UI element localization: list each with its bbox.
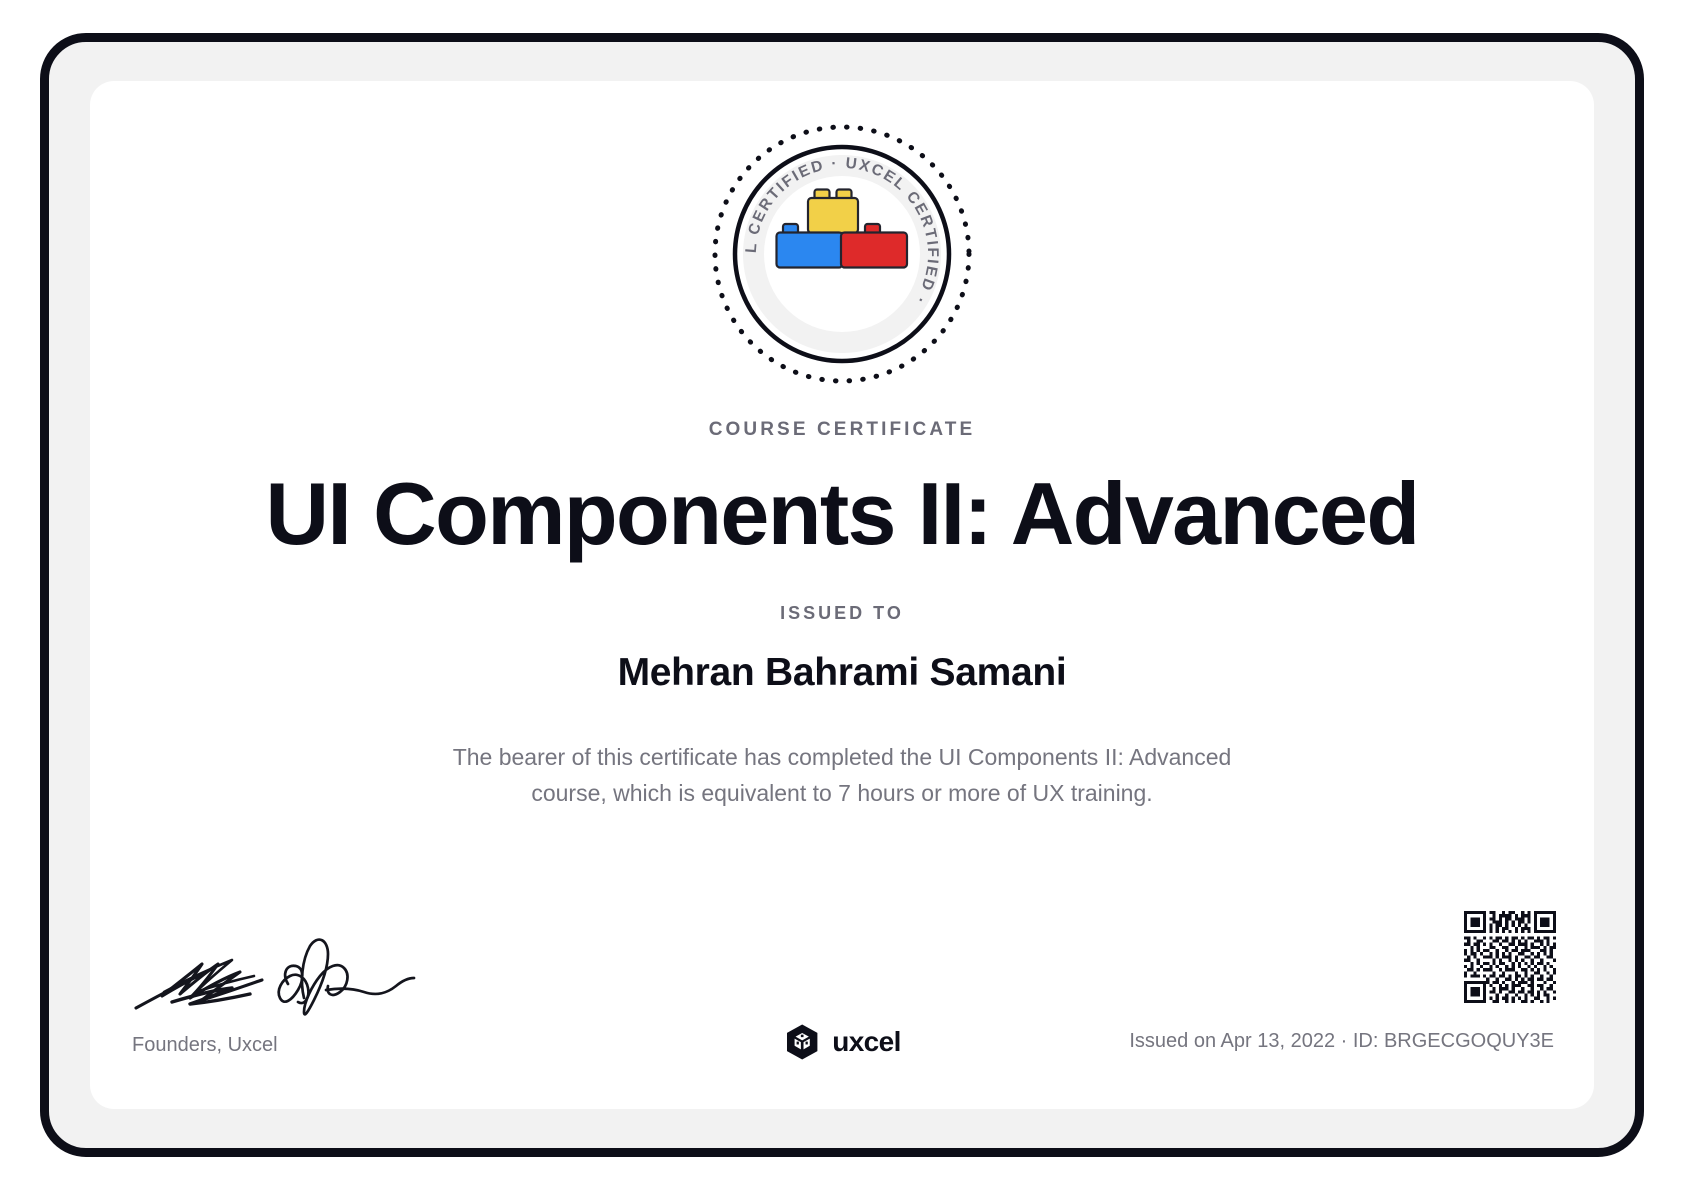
uxcel-brand: uxcel xyxy=(783,1023,901,1061)
certificate-page: UXCEL CERTIFIED · UXCEL CERTIFIED · xyxy=(0,0,1684,1190)
certificate-footer: Founders, Uxcel uxcel xyxy=(90,919,1594,1109)
uxcel-wordmark: uxcel xyxy=(832,1026,901,1058)
signature-label: Founders, Uxcel xyxy=(132,1034,458,1057)
recipient-name: Mehran Bahrami Samani xyxy=(618,651,1067,695)
signature-block: Founders, Uxcel xyxy=(128,936,458,1057)
issued-to-label: Issued To xyxy=(780,603,904,624)
uxcel-certified-seal: UXCEL CERTIFIED · UXCEL CERTIFIED · xyxy=(708,120,976,388)
issue-metadata: Issued on Apr 13, 2022 · ID: BRGECGOQUY3… xyxy=(1129,1030,1554,1053)
founder-signatures xyxy=(128,936,428,1022)
certificate-qr-code[interactable] xyxy=(1464,911,1556,1003)
certificate-description: The bearer of this certificate has compl… xyxy=(447,739,1237,812)
certificate-card: UXCEL CERTIFIED · UXCEL CERTIFIED · xyxy=(90,81,1594,1109)
course-certificate-kicker: Course Certificate xyxy=(709,419,976,441)
uxcel-logo-icon xyxy=(783,1023,821,1061)
page-title: UI Components II: Advanced xyxy=(265,470,1418,558)
